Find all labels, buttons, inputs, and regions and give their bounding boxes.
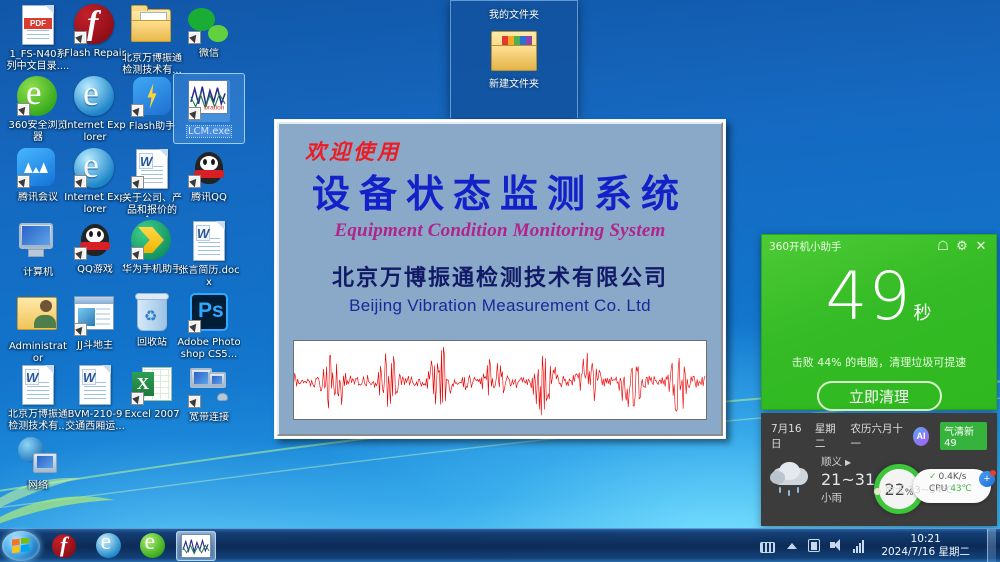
show-desktop-button[interactable] xyxy=(987,529,996,562)
rain-cloud-icon xyxy=(769,460,815,502)
desktop-icon[interactable]: Internet Explorer xyxy=(63,76,127,143)
desktop-icon-label: Internet Explorer xyxy=(63,192,127,215)
desktop-icon[interactable]: WBVM-210-9 交通西厢运... xyxy=(63,364,127,432)
desktop-icon[interactable]: Adobe Photoshop CS5... xyxy=(177,292,241,360)
desktop-icon[interactable]: 腾讯QQ xyxy=(177,148,241,204)
weather-body: 顺义▶ 21~31 小雨 22% ✓0.4K/s CPU 43℃ + 后天 23… xyxy=(761,451,997,505)
desktop-icon[interactable]: 网络 xyxy=(6,436,70,492)
svg-text:bration: bration xyxy=(204,104,225,111)
desktop-icon-label: JJ斗地主 xyxy=(63,340,127,352)
ic-lcm-icon: bration xyxy=(188,80,230,122)
boot-widget-header: 360开机小助手 ☖ ⚙ ✕ xyxy=(762,235,996,257)
shortcut-arrow-icon xyxy=(131,247,144,260)
ic-doc-word-icon: W xyxy=(131,149,173,191)
ic-ps-icon xyxy=(188,293,230,335)
air-quality-value: 49 xyxy=(944,438,957,449)
show-hidden-icons-arrow[interactable] xyxy=(784,538,799,553)
desktop-icon-label: Flash Repair xyxy=(63,48,127,60)
desktop-icon[interactable]: 宽带连接 xyxy=(177,364,241,424)
shortcut-arrow-icon xyxy=(17,103,30,116)
ic-folder-icon xyxy=(131,9,173,51)
weather-lunar-date: 农历六月十一 xyxy=(851,421,904,451)
ic-ie-icon xyxy=(74,76,116,118)
desktop-icon[interactable]: Flash Repair xyxy=(63,4,127,60)
boot-time-value: 49秒 xyxy=(762,265,996,346)
desktop-icon-label: QQ游戏 xyxy=(63,264,127,276)
weather-temp-range: 21~31 xyxy=(821,470,875,489)
ic-folderuser-icon xyxy=(17,297,59,339)
weather-info[interactable]: 顺义▶ 21~31 小雨 xyxy=(821,454,875,505)
splash-inner-panel: 欢迎使用 设备状态监测系统 Equipment Condition Monito… xyxy=(277,122,723,436)
desktop-icon[interactable]: W张言简历.docx xyxy=(177,220,241,288)
shortcut-arrow-icon xyxy=(188,31,201,44)
clean-now-button[interactable]: 立即清理 xyxy=(817,381,942,411)
360-browser-icon xyxy=(140,533,165,558)
shirt-icon[interactable]: ☖ xyxy=(935,238,951,254)
ic-doc-pdf-icon: PDF xyxy=(17,5,59,47)
vibration-waveform xyxy=(294,341,706,419)
desktop-icon[interactable]: 360安全浏览器 xyxy=(6,76,70,143)
desktop-icon[interactable]: W关于公司、产品和报价的介... xyxy=(120,148,184,217)
ic-huawei-icon xyxy=(131,220,173,262)
ic-xls-icon: X xyxy=(131,365,173,407)
desktop-icon-label: 网络 xyxy=(6,480,70,492)
weather-header: 7月16日 星期二 农历六月十一 AI 气清新 49 xyxy=(761,413,997,451)
desktop-icon-label: BVM-210-9 交通西厢运... xyxy=(63,409,127,432)
weather-weekday: 星期二 xyxy=(815,421,842,451)
desktop-icon[interactable]: 计算机 xyxy=(6,220,70,279)
windows-logo-icon xyxy=(12,538,30,554)
desktop-icon[interactable]: QQ游戏 xyxy=(63,220,127,276)
desktop-icon-label: 张言简历.docx xyxy=(177,265,241,288)
desktop-icon[interactable]: PDF1_FS-N40系列中文目录.... xyxy=(6,4,70,72)
clock-time: 10:21 xyxy=(881,533,970,546)
vibration-waveform-panel xyxy=(293,340,707,420)
chevron-right-icon: ▶ xyxy=(845,458,851,467)
desktop-icon[interactable]: W北京万博振通检测技术有... xyxy=(6,364,70,432)
desktop-icon-label: 关于公司、产品和报价的介... xyxy=(120,193,184,217)
taskbar-item-flash-repair[interactable] xyxy=(44,531,84,561)
folder-preview-title: 我的文件夹 xyxy=(451,1,577,21)
ic-doc-word-icon: W xyxy=(17,365,59,407)
desktop-icon[interactable]: 北京万博振通检测技术有... xyxy=(120,4,184,76)
action-center-icon[interactable] xyxy=(808,539,820,552)
splash-window[interactable]: 欢迎使用 设备状态监测系统 Equipment Condition Monito… xyxy=(274,119,726,439)
desktop-icon-label: 回收站 xyxy=(120,337,184,349)
ic-qq-icon xyxy=(74,220,116,262)
ic-wechat-icon xyxy=(188,4,230,46)
folder-preview-item-label: 新建文件夹 xyxy=(451,75,577,90)
boot-time-number: 49 xyxy=(826,258,912,335)
ic-ie-icon xyxy=(74,148,116,190)
ic-win-icon xyxy=(74,296,116,338)
desktop-icon-label: 360安全浏览器 xyxy=(6,120,70,143)
desktop-icon-label: LCM.exe xyxy=(187,126,231,138)
desktop-icon[interactable]: brationLCM.exe xyxy=(177,76,241,142)
desktop-icon-label: Internet Explorer xyxy=(63,120,127,143)
desktop-icon[interactable]: Administrator xyxy=(6,292,70,364)
desktop-icon[interactable]: 腾讯会议 xyxy=(6,148,70,204)
ic-doc-word-icon: W xyxy=(74,365,116,407)
ai-badge-icon[interactable]: AI xyxy=(913,427,929,446)
sun-icon xyxy=(871,485,884,498)
ic-bolt-icon xyxy=(131,77,173,119)
weather-forecast: 后天 23~34℃ xyxy=(885,481,953,496)
desktop-icon-label: 腾讯会议 xyxy=(6,192,70,204)
taskbar-clock[interactable]: 10:21 2024/7/16 星期二 xyxy=(877,533,976,559)
desktop-icon[interactable]: ♻回收站 xyxy=(120,292,184,349)
shortcut-arrow-icon xyxy=(17,175,30,188)
shortcut-arrow-icon xyxy=(188,107,201,120)
shortcut-arrow-icon xyxy=(131,392,144,405)
shortcut-arrow-icon xyxy=(131,176,144,189)
network-signal-icon[interactable] xyxy=(853,538,868,553)
desktop-icon-label: 计算机 xyxy=(6,267,70,279)
shortcut-arrow-icon xyxy=(74,323,87,336)
input-method-icon[interactable] xyxy=(760,542,775,553)
boot-time-unit: 秒 xyxy=(913,303,932,324)
ic-bin-icon: ♻ xyxy=(131,293,173,335)
desktop-icon-label: Excel 2007 xyxy=(120,409,184,421)
splash-company-cn: 北京万博振通检测技术有限公司 xyxy=(289,260,711,292)
weather-city[interactable]: 顺义▶ xyxy=(821,454,875,469)
cpu-temp-value: 43℃ xyxy=(950,484,972,494)
shortcut-arrow-icon xyxy=(74,175,87,188)
splash-welcome-text: 欢迎使用 xyxy=(305,136,711,166)
ic-net-icon xyxy=(17,436,59,478)
taskbar-item-lcm-exe[interactable] xyxy=(176,531,216,561)
boot-widget-description: 击败 44% 的电脑，清理垃圾可提速 xyxy=(762,354,996,370)
ic-pc-icon xyxy=(17,223,59,265)
ic-qq-icon xyxy=(188,148,230,190)
ic-doc-word-icon: W xyxy=(188,221,230,263)
start-button[interactable] xyxy=(2,531,40,561)
air-quality-badge[interactable]: 气清新 49 xyxy=(940,422,987,450)
folder-preview-popup[interactable]: 我的文件夹 新建文件夹 xyxy=(450,0,578,118)
desktop-icon-label: 微信 xyxy=(177,48,241,60)
lcm-waveform-icon xyxy=(181,534,211,558)
taskbar[interactable]: 10:21 2024/7/16 星期二 xyxy=(0,528,1000,562)
desktop-icon[interactable]: 微信 xyxy=(177,4,241,60)
shortcut-arrow-icon xyxy=(188,320,201,333)
ic-bb-icon xyxy=(188,368,230,410)
shortcut-arrow-icon xyxy=(131,104,144,117)
desktop-icon-label: 1_FS-N40系列中文目录.... xyxy=(6,49,70,72)
air-quality-label: 气清新 xyxy=(944,427,974,438)
desktop-icon-label: Adobe Photoshop CS5... xyxy=(177,337,241,360)
shortcut-arrow-icon xyxy=(188,175,201,188)
boot-widget-title: 360开机小助手 xyxy=(769,239,932,254)
splash-subtitle: Equipment Condition Monitoring System xyxy=(289,220,711,242)
weather-condition: 小雨 xyxy=(821,490,875,505)
desktop-icon-label: Administrator xyxy=(6,341,70,364)
desktop-icon[interactable]: XExcel 2007 xyxy=(120,364,184,421)
360-boot-assistant-widget[interactable]: 360开机小助手 ☖ ⚙ ✕ 49秒 击败 44% 的电脑，清理垃圾可提速 立即… xyxy=(761,234,997,410)
clock-date: 2024/7/16 星期二 xyxy=(881,546,970,559)
desktop-icon[interactable]: JJ斗地主 xyxy=(63,292,127,352)
desktop-icon-label: 华为手机助手 xyxy=(120,264,184,276)
gear-icon[interactable]: ⚙ xyxy=(954,238,970,254)
flash-icon xyxy=(52,534,76,558)
desktop-icon-label: 宽带连接 xyxy=(177,412,241,424)
taskbar-item-360-browser[interactable] xyxy=(132,531,172,561)
ic-tm-icon xyxy=(17,148,59,190)
desktop-icon-label: 北京万博振通检测技术有... xyxy=(6,409,70,432)
close-icon[interactable]: ✕ xyxy=(973,238,989,254)
desktop-icon[interactable]: 华为手机助手 xyxy=(120,220,184,276)
ic-360-icon xyxy=(17,76,59,118)
ie-icon xyxy=(96,533,121,558)
weather-status-widget[interactable]: 7月16日 星期二 农历六月十一 AI 气清新 49 顺义▶ 21~31 小雨 … xyxy=(761,413,997,526)
splash-company-en: Beijing Vibration Measurement Co. Ltd xyxy=(289,296,711,316)
add-widget-button[interactable]: + xyxy=(979,471,995,487)
weather-date: 7月16日 xyxy=(771,421,806,451)
shortcut-arrow-icon xyxy=(74,31,87,44)
taskbar-item-internet-explorer[interactable] xyxy=(88,531,128,561)
shortcut-arrow-icon xyxy=(188,395,201,408)
desktop-icon-label: 腾讯QQ xyxy=(177,192,241,204)
shortcut-arrow-icon xyxy=(74,247,87,260)
splash-title: 设备状态监测系统 xyxy=(289,174,711,214)
volume-icon[interactable] xyxy=(829,538,844,553)
folder-icon[interactable] xyxy=(491,31,537,71)
system-tray[interactable]: 10:21 2024/7/16 星期二 xyxy=(760,529,1000,562)
desktop-icon[interactable]: Internet Explorer xyxy=(63,148,127,215)
ic-flash-icon xyxy=(74,4,116,46)
